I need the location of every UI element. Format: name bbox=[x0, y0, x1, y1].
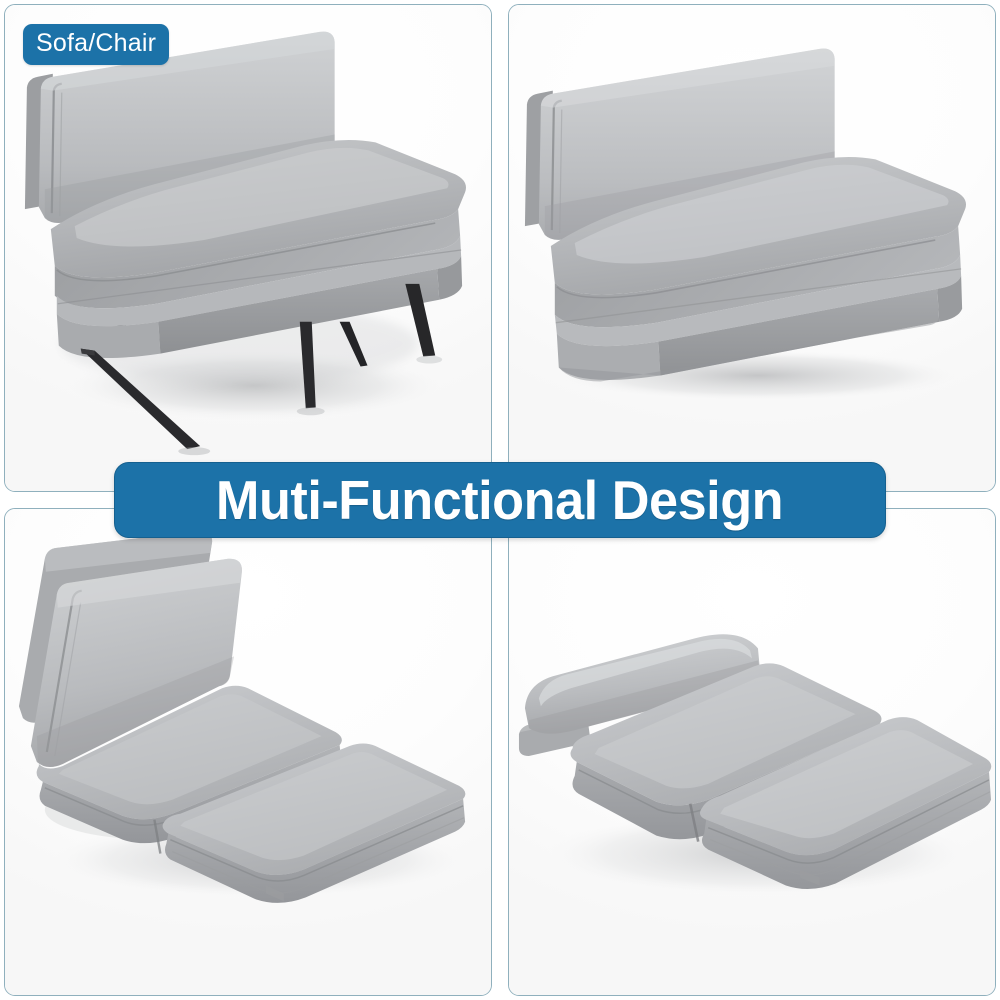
floor-sofa-couch-image bbox=[509, 5, 995, 491]
banner-multi-functional-design: Muti-Functional Design bbox=[114, 462, 886, 538]
product-infographic: Sofa/Chair bbox=[0, 0, 1000, 1000]
sofa-chair-image bbox=[5, 5, 491, 491]
panel-lounger: Lounger bbox=[4, 508, 492, 996]
lounger-image bbox=[5, 509, 491, 995]
panel-bed: Bed bbox=[508, 508, 996, 996]
panel-floor-sofa-couch: Floor Sofa Couch bbox=[508, 4, 996, 492]
panel-sofa-chair: Sofa/Chair bbox=[4, 4, 492, 492]
label-sofa-chair: Sofa/Chair bbox=[23, 24, 169, 65]
banner-title: Muti-Functional Design bbox=[216, 473, 783, 528]
bed-image bbox=[509, 509, 995, 995]
